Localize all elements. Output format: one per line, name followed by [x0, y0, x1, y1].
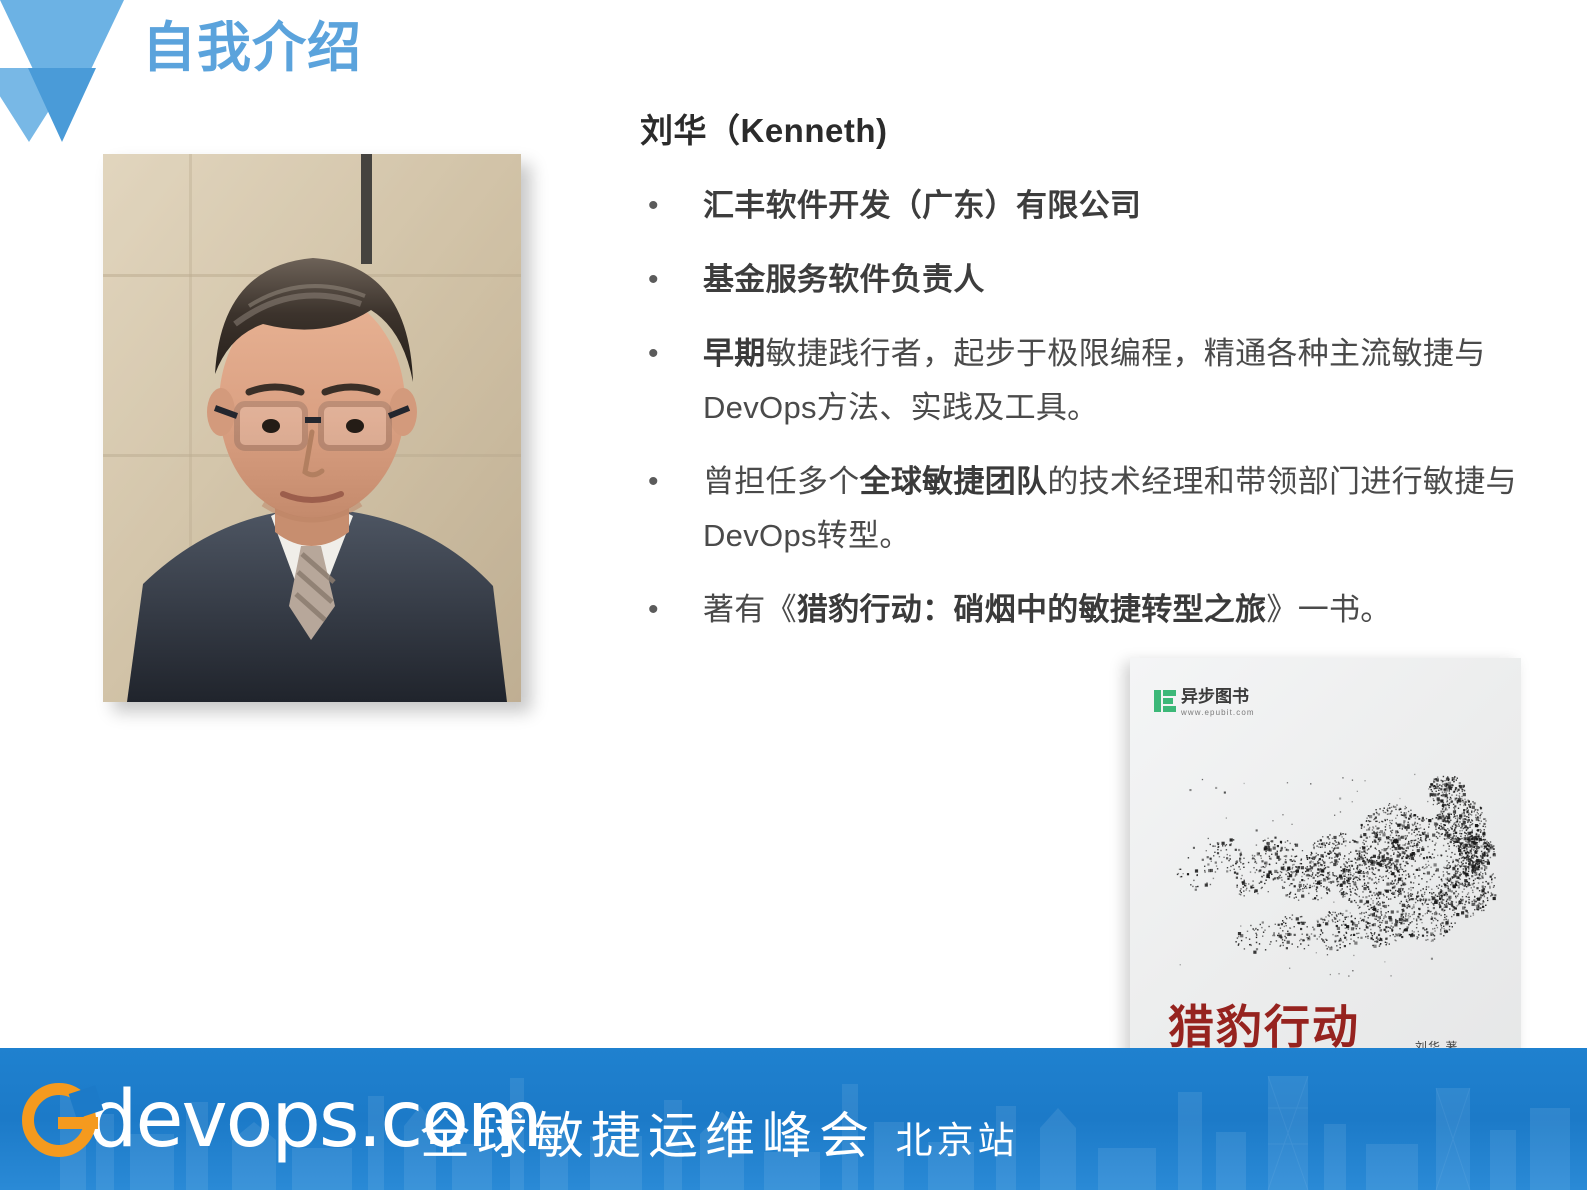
book-title: 猎豹行动 [1168, 1003, 1360, 1051]
bullet-marker-icon: • [640, 179, 703, 233]
bio-bullet-list: •汇丰软件开发（广东）有限公司•基金服务软件负责人•早期敏捷践行者，起步于极限编… [640, 179, 1540, 637]
bio-bullet-item: •著有《猎豹行动：硝烟中的敏捷转型之旅》一书。 [640, 583, 1540, 637]
bio-bullet-item: •汇丰软件开发（广东）有限公司 [640, 179, 1540, 233]
bio-bullet-text: 基金服务软件负责人 [703, 253, 1540, 307]
speaker-photo-frame [103, 154, 521, 702]
bio-bullet-item: •曾担任多个全球敏捷团队的技术经理和带领部门进行敏捷与DevOps转型。 [640, 455, 1540, 563]
inverted-triangle-logo-icon [0, 0, 132, 142]
triangle-overlap [28, 68, 96, 142]
bio-bullet-text: 著有《猎豹行动：硝烟中的敏捷转型之旅》一书。 [703, 583, 1540, 637]
conference-name-main: 全球敏捷运维峰会 [420, 1108, 876, 1164]
epubit-logo: 异步图书 www.epubit.com [1154, 688, 1255, 717]
bio-bullet-item: •早期敏捷践行者，起步于极限编程，精通各种主流敏捷与DevOps方法、实践及工具… [640, 327, 1540, 435]
gdevops-g-icon [22, 1083, 96, 1157]
slide-root: 自我介绍 [0, 0, 1587, 1190]
footer-band: devops.com 全球敏捷运维峰会 北京站 [0, 1048, 1587, 1190]
bullet-marker-icon: • [640, 583, 703, 637]
cheetah-particle-illustration-icon [1130, 718, 1521, 1018]
bio-bullet-text: 早期敏捷践行者，起步于极限编程，精通各种主流敏捷与DevOps方法、实践及工具。 [703, 327, 1540, 435]
bio-bullet-item: •基金服务软件负责人 [640, 253, 1540, 307]
speaker-portrait-photo [103, 154, 521, 702]
bio-bullet-text: 汇丰软件开发（广东）有限公司 [703, 179, 1540, 233]
conference-name: 全球敏捷运维峰会 北京站 [420, 1096, 1019, 1168]
bullet-marker-icon: • [640, 455, 703, 509]
speaker-name: 刘华（Kenneth) [640, 110, 1540, 153]
bullet-marker-icon: • [640, 253, 703, 307]
bullet-marker-icon: • [640, 327, 703, 381]
bio-bullet-text: 曾担任多个全球敏捷团队的技术经理和带领部门进行敏捷与DevOps转型。 [703, 455, 1540, 563]
epubit-url: www.epubit.com [1181, 708, 1255, 717]
epubit-mark-icon [1154, 690, 1176, 712]
conference-city: 北京站 [896, 1121, 1019, 1162]
epubit-name: 异步图书 [1181, 688, 1255, 705]
speaker-bio: 刘华（Kenneth) •汇丰软件开发（广东）有限公司•基金服务软件负责人•早期… [640, 110, 1540, 657]
page-title: 自我介绍 [142, 19, 362, 78]
